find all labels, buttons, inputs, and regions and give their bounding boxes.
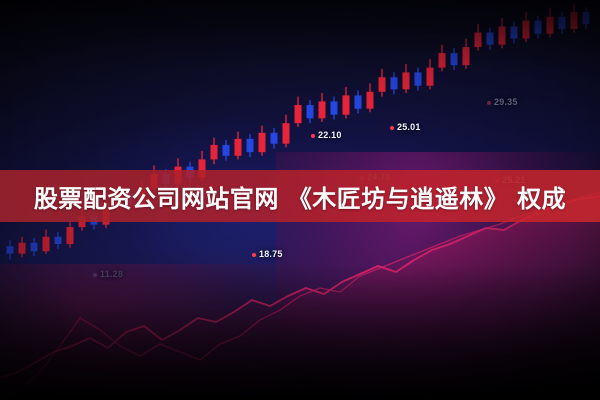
annotation-value: 22.10 (318, 130, 342, 140)
price-annotation: 25.01 (390, 122, 421, 132)
candle-body (379, 77, 386, 92)
candle-body (523, 20, 530, 38)
annotation-marker-icon (252, 253, 256, 257)
candle-body (271, 133, 278, 144)
candle-body (55, 237, 62, 244)
annotation-marker-icon (390, 126, 394, 130)
candle-body (439, 53, 446, 67)
candle-body (295, 105, 302, 123)
candle-body (559, 17, 566, 29)
candle-body (31, 243, 38, 251)
annotation-value: 11.28 (100, 269, 123, 279)
screenshot-canvas: 22.1025.0118.7524.7825.2129.3511.28 股票配资… (0, 0, 600, 400)
candle-body (7, 246, 14, 253)
candle-body (307, 105, 314, 118)
candle-body (511, 27, 518, 39)
candle-body (19, 243, 26, 254)
candle-body (211, 145, 218, 160)
candle-body (583, 12, 590, 24)
candle-body (319, 101, 326, 118)
candle-body (499, 27, 506, 45)
candle-body (427, 68, 434, 86)
candle-body (547, 17, 554, 34)
annotation-value: 25.01 (397, 122, 421, 132)
price-annotation: 18.75 (252, 249, 283, 259)
annotation-value: 29.35 (494, 97, 518, 107)
candle-body (571, 12, 578, 29)
candle-body (487, 33, 494, 45)
annotation-marker-icon (311, 134, 315, 138)
candle-body (403, 72, 410, 89)
candle-body (259, 133, 266, 152)
candle-body (463, 47, 470, 65)
candle-body (67, 227, 74, 244)
candle-body (391, 77, 398, 89)
candle-body (355, 95, 362, 108)
candle-body (247, 139, 254, 152)
annotation-value: 18.75 (259, 249, 283, 259)
candle-body (475, 33, 482, 48)
title-banner: 股票配资公司网站官网 《木匠坊与逍遥林》 权成 (0, 170, 600, 222)
price-annotation: 29.35 (487, 97, 518, 107)
candle-body (367, 92, 374, 109)
candle-body (451, 53, 458, 65)
candle-body (43, 237, 50, 252)
price-annotation: 11.28 (93, 269, 123, 279)
candle-body (415, 72, 422, 85)
candle-body (235, 139, 242, 156)
annotation-marker-icon (93, 273, 97, 277)
page-title: 股票配资公司网站官网 《木匠坊与逍遥林》 权成 (34, 179, 566, 214)
candle-body (283, 123, 290, 144)
candle-body (223, 145, 230, 156)
candle-body (535, 20, 542, 33)
candle-body (331, 101, 338, 114)
price-annotation: 22.10 (311, 130, 342, 140)
annotation-marker-icon (487, 101, 491, 105)
candle-body (343, 95, 350, 114)
